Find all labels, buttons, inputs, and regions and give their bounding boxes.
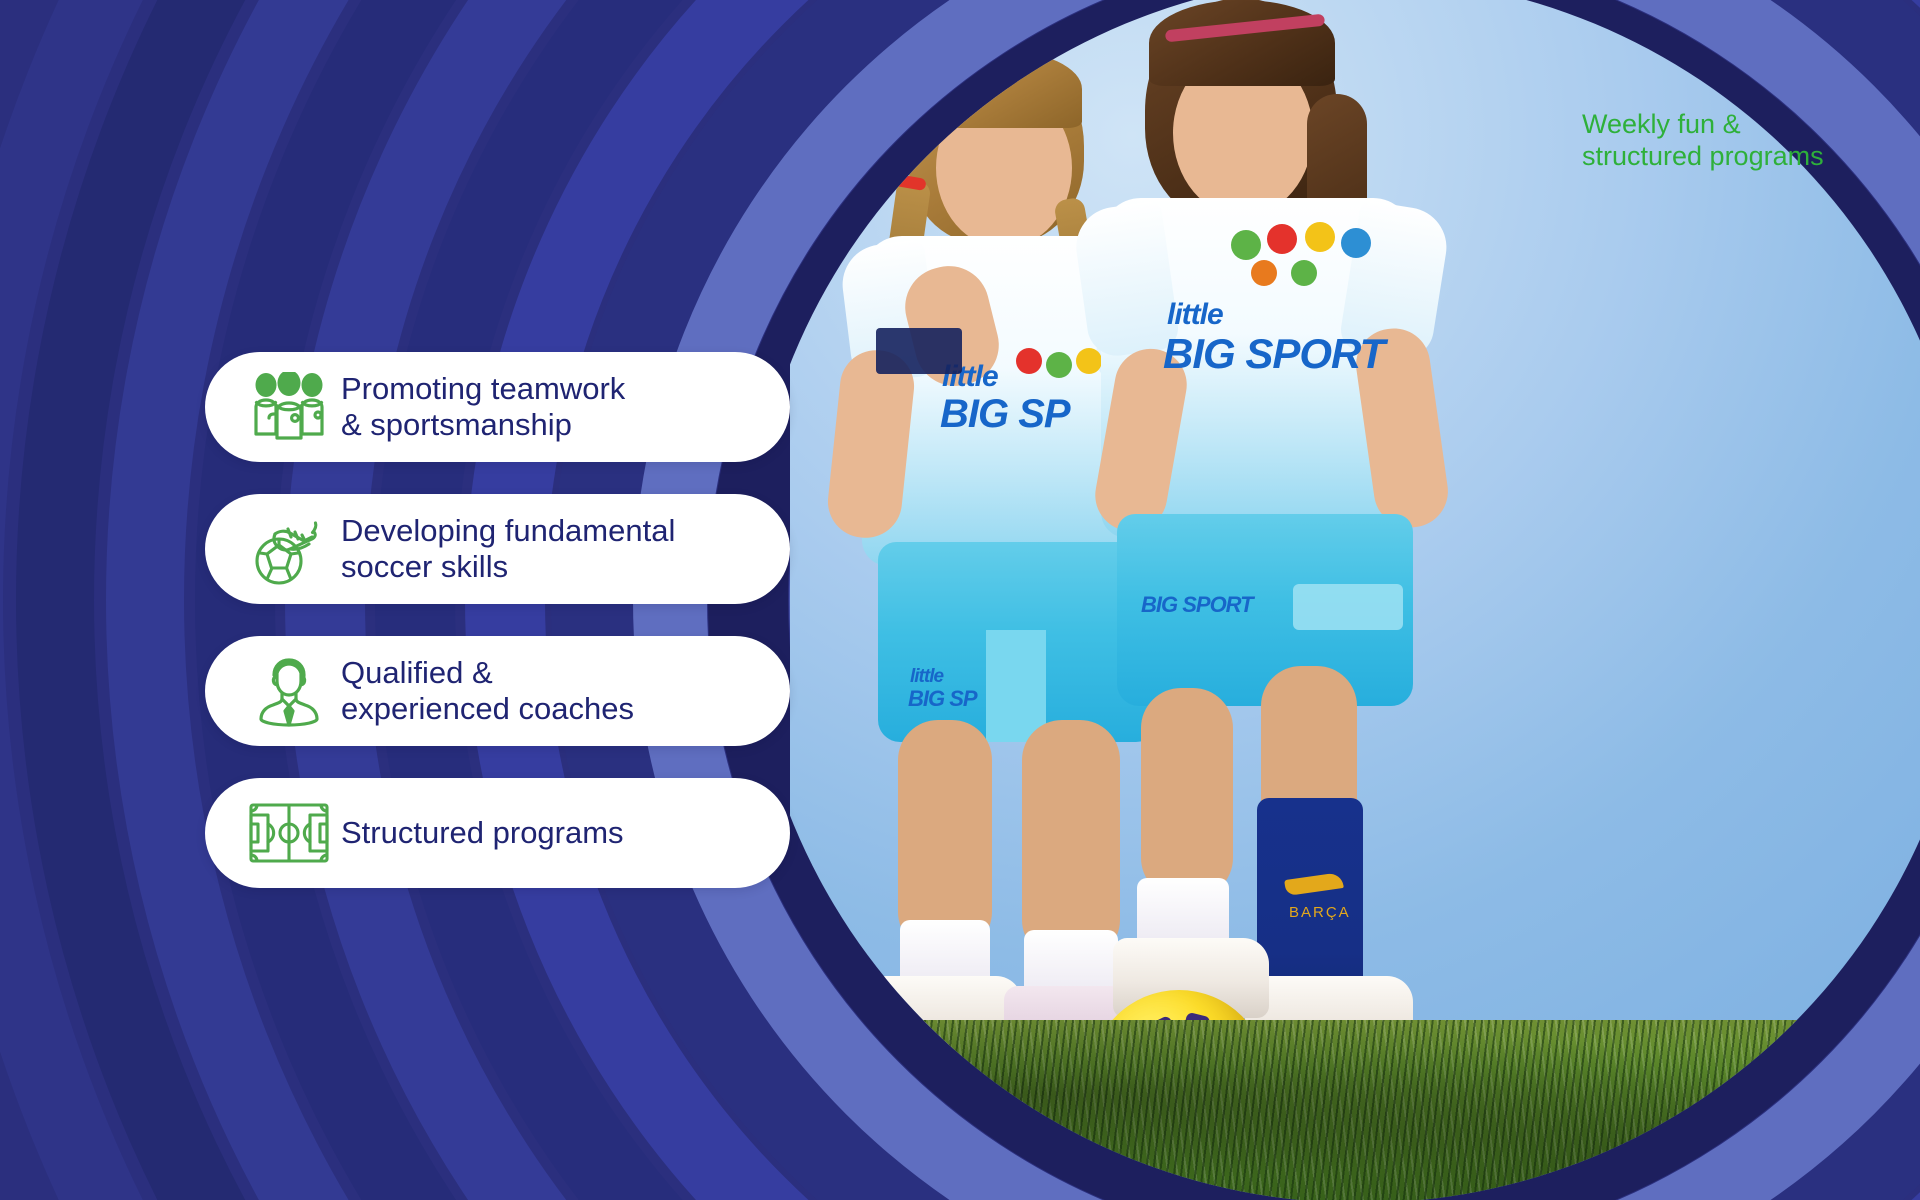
hero-photo: little BIG SP little BIG SP bbox=[790, 0, 1920, 1200]
slide-canvas: little BIG SP little BIG SP bbox=[0, 0, 1920, 1200]
three-people-jerseys-icon bbox=[237, 372, 341, 442]
soccer-boot-and-ball-icon bbox=[237, 511, 341, 587]
feature-card-coaches[interactable]: Qualified & experienced coaches bbox=[205, 636, 790, 746]
feature-card-structured-programs[interactable]: Structured programs bbox=[205, 778, 790, 888]
tagline: Weekly fun & structured programs bbox=[1582, 108, 1882, 173]
feature-card-label: Qualified & experienced coaches bbox=[341, 655, 652, 727]
feature-card-label: Promoting teamwork & sportsmanship bbox=[341, 371, 643, 443]
feature-card-label: Structured programs bbox=[341, 815, 642, 851]
soccer-pitch-icon bbox=[237, 802, 341, 864]
feature-card-teamwork[interactable]: Promoting teamwork & sportsmanship bbox=[205, 352, 790, 462]
coach-person-icon bbox=[237, 655, 341, 727]
child-right: little BIG SPORT BIG SPORT BARÇA bbox=[1005, 0, 1475, 1028]
photo-grass bbox=[790, 1020, 1920, 1200]
feature-card-soccer-skills[interactable]: Developing fundamental soccer skills bbox=[205, 494, 790, 604]
feature-card-label: Developing fundamental soccer skills bbox=[341, 513, 693, 585]
feature-card-list: Promoting teamwork & sportsmanship bbox=[205, 352, 790, 920]
